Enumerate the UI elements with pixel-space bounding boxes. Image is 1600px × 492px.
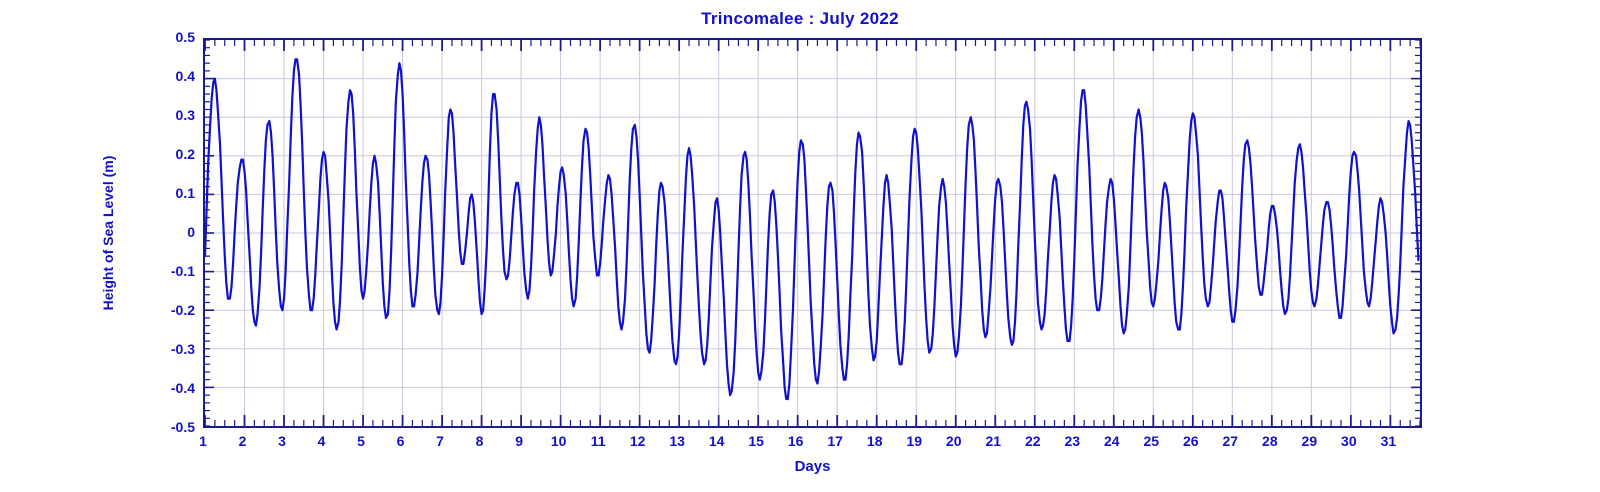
y-tick-label: 0.2	[176, 147, 195, 161]
x-tick-label: 31	[1368, 434, 1408, 448]
x-tick-label: 28	[1250, 434, 1290, 448]
x-tick-label: 3	[262, 434, 302, 448]
x-tick-label: 21	[973, 434, 1013, 448]
x-tick-label: 13	[657, 434, 697, 448]
x-tick-label: 14	[697, 434, 737, 448]
x-tick-label: 16	[776, 434, 816, 448]
y-tick-label: -0.1	[171, 264, 195, 278]
tide-chart-page: Trincomalee : July 2022 Height of Sea Le…	[0, 0, 1600, 492]
x-tick-label: 11	[578, 434, 618, 448]
x-tick-label: 22	[1013, 434, 1053, 448]
x-tick-label: 24	[1092, 434, 1132, 448]
y-axis-label: Height of Sea Level (m)	[100, 38, 122, 428]
y-axis-tick-labels: 0.50.40.30.20.10-0.1-0.2-0.3-0.4-0.5	[120, 38, 195, 428]
x-tick-label: 10	[539, 434, 579, 448]
x-tick-label: 7	[420, 434, 460, 448]
x-tick-label: 17	[815, 434, 855, 448]
x-tick-label: 4	[302, 434, 342, 448]
x-tick-label: 5	[341, 434, 381, 448]
y-tick-label: 0.1	[176, 186, 195, 200]
y-tick-label: 0	[187, 225, 195, 239]
x-tick-label: 8	[460, 434, 500, 448]
x-tick-label: 23	[1052, 434, 1092, 448]
x-tick-label: 15	[736, 434, 776, 448]
y-tick-label: -0.3	[171, 342, 195, 356]
x-tick-label: 27	[1210, 434, 1250, 448]
x-tick-label: 9	[499, 434, 539, 448]
y-tick-label: -0.4	[171, 381, 195, 395]
x-axis-tick-labels: 1234567891011121314151617181920212223242…	[203, 434, 1422, 454]
x-tick-label: 18	[855, 434, 895, 448]
y-tick-label: -0.5	[171, 420, 195, 434]
y-tick-label: 0.4	[176, 69, 195, 83]
x-tick-label: 12	[618, 434, 658, 448]
x-tick-label: 25	[1131, 434, 1171, 448]
page-title: Trincomalee : July 2022	[0, 9, 1600, 29]
x-tick-label: 2	[223, 434, 263, 448]
x-tick-label: 1	[183, 434, 223, 448]
y-tick-label: -0.2	[171, 303, 195, 317]
sea-level-series	[205, 40, 1420, 426]
x-axis-label: Days	[203, 458, 1422, 475]
x-tick-label: 26	[1171, 434, 1211, 448]
y-tick-label: 0.5	[176, 30, 195, 44]
x-tick-label: 6	[381, 434, 421, 448]
x-tick-label: 30	[1329, 434, 1369, 448]
x-tick-label: 19	[894, 434, 934, 448]
y-tick-label: 0.3	[176, 108, 195, 122]
plot-area	[203, 38, 1422, 428]
x-tick-label: 20	[934, 434, 974, 448]
x-tick-label: 29	[1289, 434, 1329, 448]
